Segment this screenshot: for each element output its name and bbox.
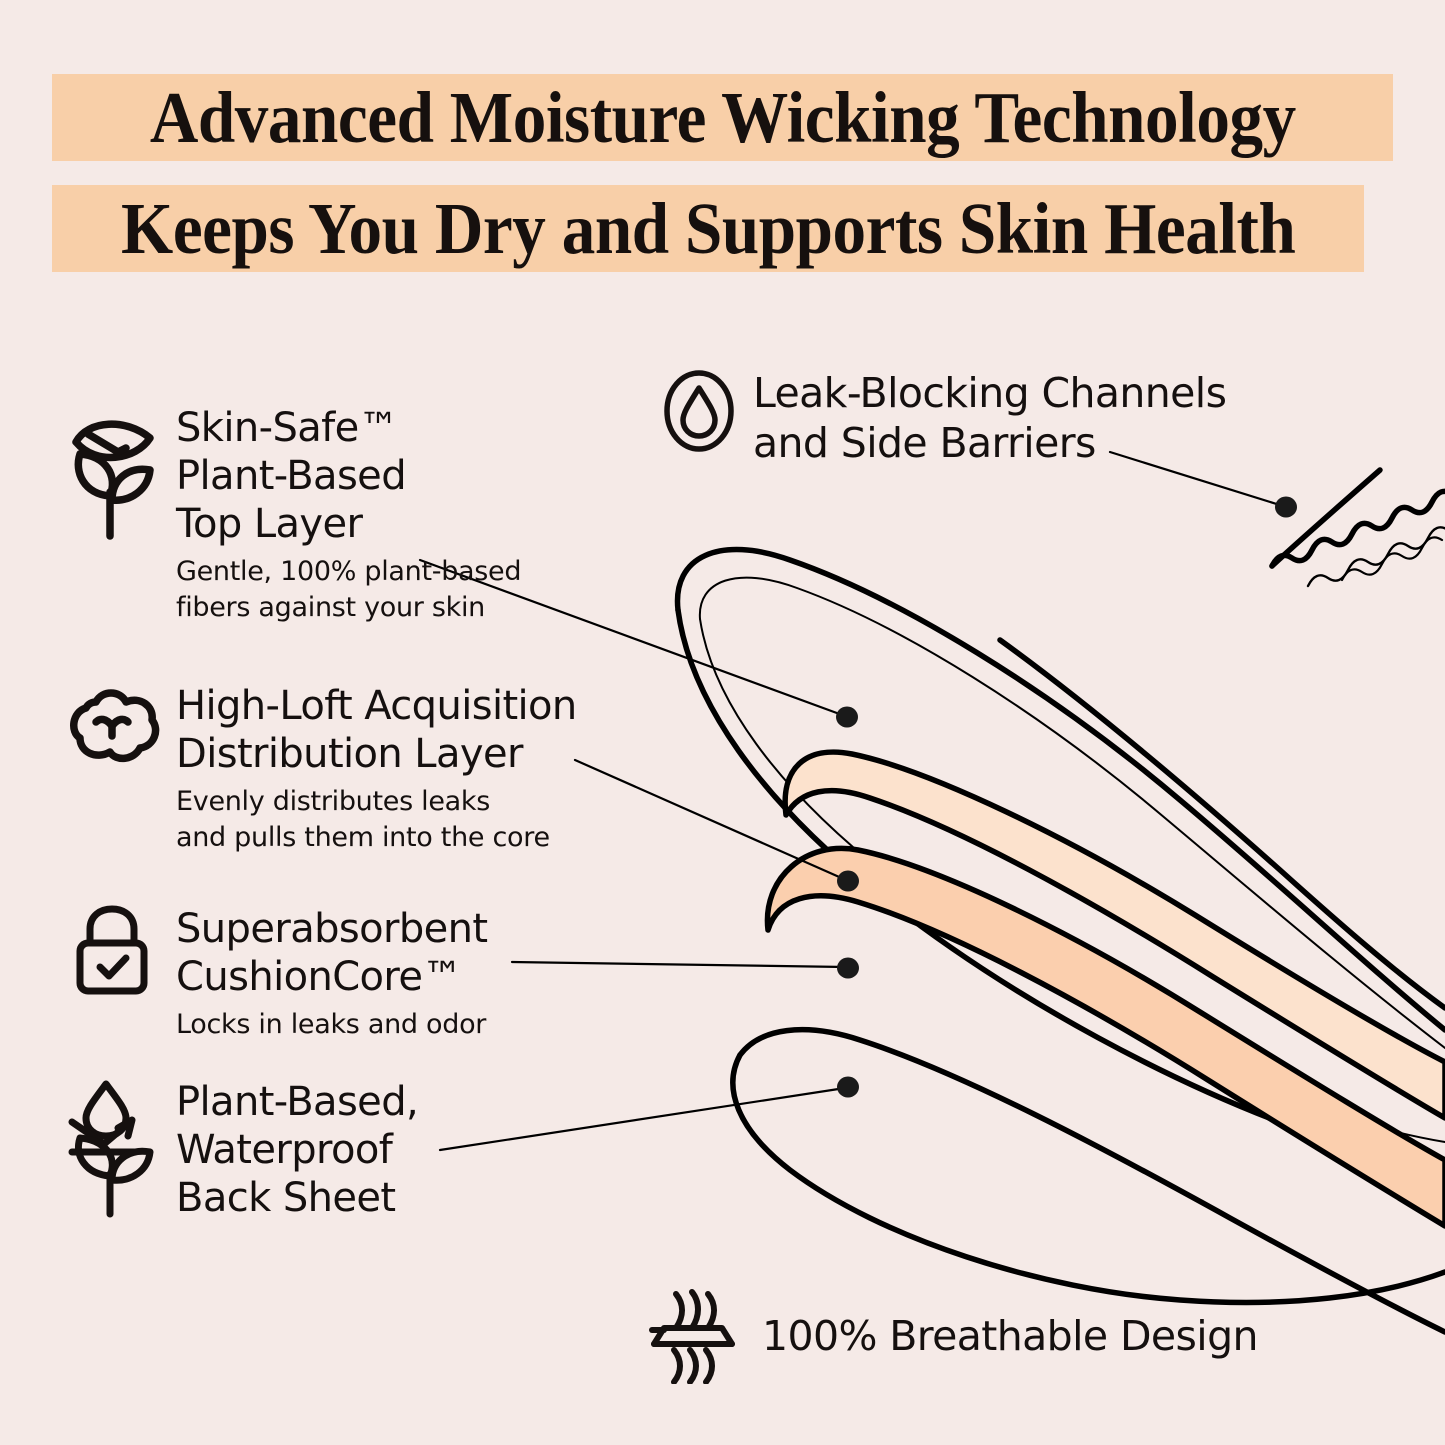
feature-back-sheet: Plant-Based, Waterproof Back Sheet bbox=[66, 1078, 486, 1222]
diagram-top-layer-inner-contour bbox=[700, 578, 1445, 1048]
diagram-core-layer bbox=[767, 848, 1445, 1226]
leader-dot-adl bbox=[837, 871, 859, 892]
headline-line-1: Advanced Moisture Wicking Technology bbox=[150, 81, 1296, 154]
callout-breathable-title: 100% Breathable Design bbox=[762, 1311, 1258, 1361]
callout-leak-blocking-title: Leak-Blocking Channels and Side Barriers bbox=[753, 368, 1226, 468]
feature-core-title: Superabsorbent CushionCore™ bbox=[176, 905, 586, 1001]
diagram-top-layer-outline bbox=[677, 550, 1445, 1030]
diagram-side-barrier-wave-inner-2 bbox=[1342, 537, 1442, 580]
leader-dot-leak-blocking bbox=[1275, 497, 1297, 518]
breathable-airflow-icon bbox=[640, 1288, 744, 1384]
lock-check-icon bbox=[66, 905, 162, 997]
feature-top-layer: Skin-Safe™ Plant-Based Top Layer Gentle,… bbox=[66, 404, 586, 626]
cloud-icon bbox=[66, 682, 162, 768]
feature-adl-subtitle: Evenly distributes leaks and pulls them … bbox=[176, 784, 626, 856]
feature-top-layer-subtitle: Gentle, 100% plant-based fibers against … bbox=[176, 554, 586, 626]
headline-bar-primary: Advanced Moisture Wicking Technology bbox=[52, 74, 1393, 161]
diagram-side-barrier-wave-inner-1 bbox=[1308, 527, 1445, 586]
feature-core-subtitle: Locks in leaks and odor bbox=[176, 1007, 586, 1043]
callout-breathable: 100% Breathable Design bbox=[640, 1288, 1258, 1384]
diagram-top-layer-lower-edge bbox=[678, 610, 1445, 1170]
feature-adl-title: High-Loft Acquisition Distribution Layer bbox=[176, 682, 626, 778]
leader-dot-back-sheet bbox=[837, 1077, 859, 1098]
callout-leak-blocking: Leak-Blocking Channels and Side Barriers bbox=[663, 368, 1226, 468]
headline-bar-secondary: Keeps You Dry and Supports Skin Health bbox=[52, 185, 1364, 272]
feature-back-sheet-title: Plant-Based, Waterproof Back Sheet bbox=[176, 1078, 486, 1222]
diagram-top-layer-inner-lower bbox=[700, 619, 1445, 1142]
diagram-side-barrier-wave-outer bbox=[1272, 491, 1445, 566]
feature-core: Superabsorbent CushionCore™ Locks in lea… bbox=[66, 905, 586, 1043]
infographic-canvas: Advanced Moisture Wicking Technology Kee… bbox=[0, 0, 1445, 1445]
headline-line-2: Keeps You Dry and Supports Skin Health bbox=[121, 192, 1295, 265]
feature-adl: High-Loft Acquisition Distribution Layer… bbox=[66, 682, 626, 856]
feature-top-layer-title: Skin-Safe™ Plant-Based Top Layer bbox=[176, 404, 586, 548]
diagram-top-layer-upper-sweep bbox=[1000, 640, 1445, 1008]
droplet-circle-icon bbox=[663, 368, 735, 454]
diagram-back-sheet-outline bbox=[733, 1055, 1445, 1302]
diagram-adl-layer bbox=[785, 752, 1445, 1118]
leader-dot-core bbox=[837, 958, 859, 979]
leaf-sprout-icon bbox=[66, 404, 162, 544]
diagram-side-barrier-connector bbox=[1272, 470, 1380, 566]
diagram-back-sheet-upper-edge bbox=[740, 1030, 1445, 1332]
leader-line-back-sheet bbox=[440, 1088, 845, 1150]
leader-dot-top-layer bbox=[836, 707, 858, 728]
waterproof-leaf-icon bbox=[66, 1078, 162, 1218]
